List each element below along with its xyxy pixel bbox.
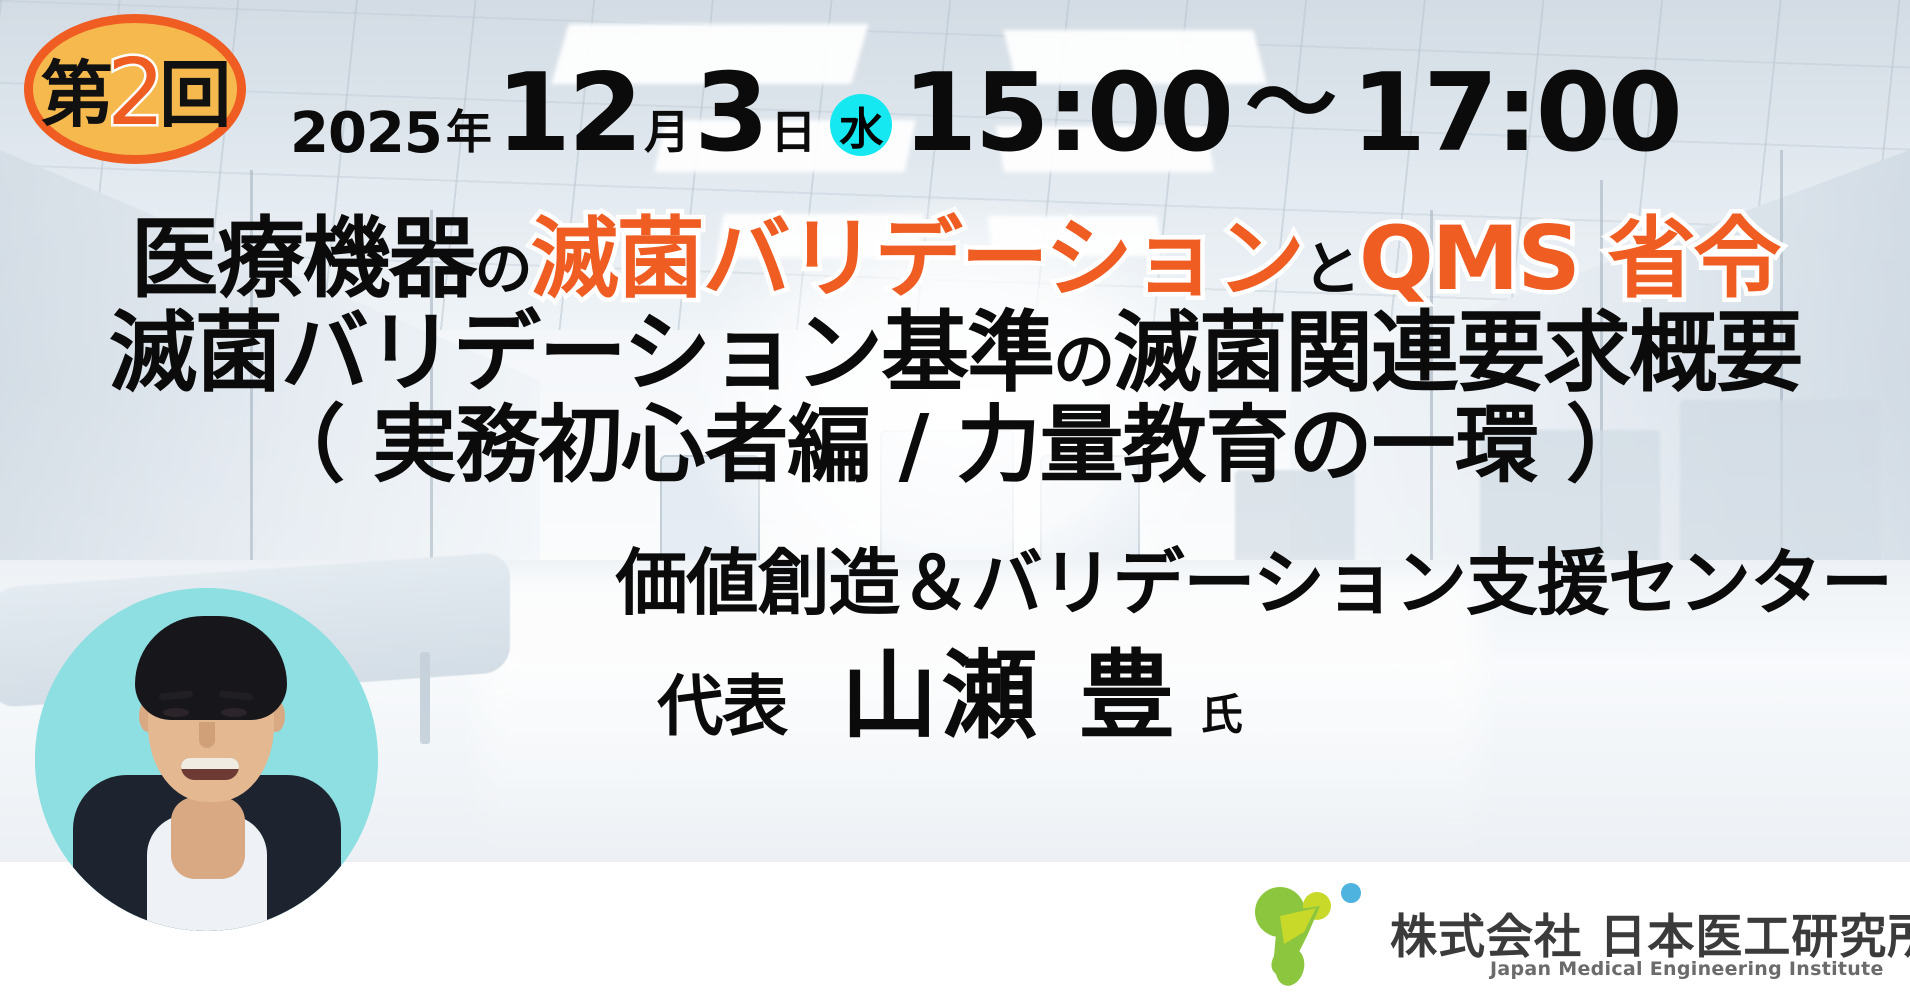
weekday-badge: 水 [830,94,892,156]
date-year: 2025 [290,101,442,166]
seminar-title-line-3-subtitle: （ 実務初心者編 / 力量教育の一環 ） [0,378,1910,499]
content-layer: 第2回 2025 年 12 月 3 日 水 15:00 〜 17:00 医療機器… [0,0,1910,1000]
company-logo-mark-icon [1250,882,1368,986]
time-range-separator: 〜 [1245,29,1337,162]
speaker-name: 山瀬 豊 [841,618,1178,757]
badge-prefix: 第 [41,59,111,131]
portrait-mouth [181,758,239,780]
speaker-organization: 価値創造＆バリデーション支援センター [615,524,1892,629]
portrait-nose [199,722,215,748]
badge-text: 第2回 [41,43,230,135]
seminar-banner: 第2回 2025 年 12 月 3 日 水 15:00 〜 17:00 医療機器… [0,0,1910,1000]
portrait-teeth [181,758,239,769]
date-day: 3 [694,63,766,166]
portrait-neck [171,797,245,879]
speaker-portrait-avatar [35,588,378,931]
date-month: 12 [496,63,640,166]
speaker-name-row: 代表 山瀬 豊 氏 [380,618,1520,757]
date-month-unit: 月 [644,96,690,162]
date-year-unit: 年 [446,96,492,162]
portrait-eye [163,708,189,717]
company-name-japanese: 株式会社 日本医工研究所 [1390,898,1910,967]
start-time: 15:00 [902,63,1231,166]
date-day-unit: 日 [770,96,816,162]
portrait-eye [221,708,247,717]
badge-suffix: 回 [159,59,229,131]
date-time-line: 2025 年 12 月 3 日 水 15:00 〜 17:00 [290,36,1890,166]
company-name-english: Japan Medical Engineering Institute [1490,958,1884,980]
badge-number: 2 [107,47,164,139]
end-time: 17:00 [1351,63,1680,166]
speaker-honorific: 氏 [1201,681,1243,742]
speaker-role: 代表 [657,653,787,749]
session-number-badge: 第2回 [24,14,246,164]
company-logo: 株式会社 日本医工研究所 Japan Medical Engineering I… [1250,880,1890,990]
